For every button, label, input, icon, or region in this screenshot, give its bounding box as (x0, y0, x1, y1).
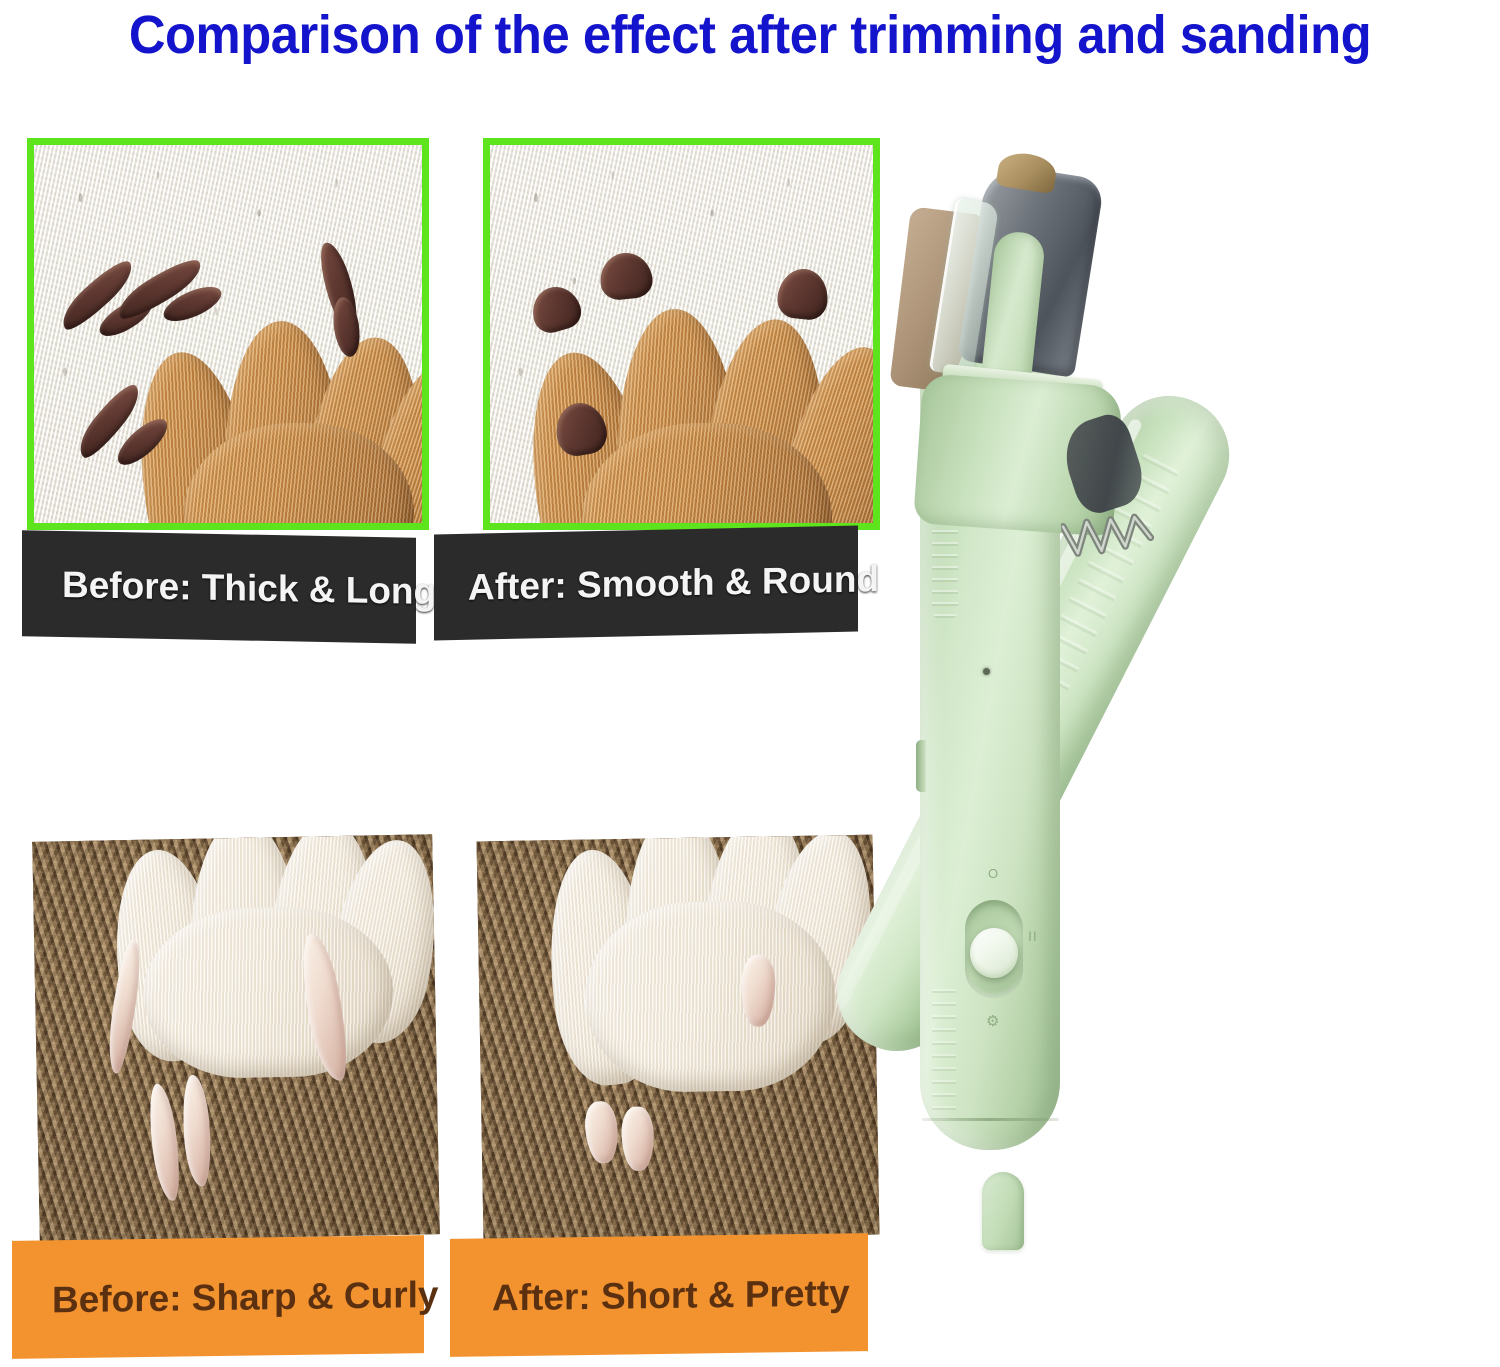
power-slider-knob[interactable] (970, 928, 1018, 978)
photo-after-short-pretty (477, 835, 880, 1242)
nail-trimmed-2 (621, 1106, 655, 1171)
body-grip-ridges-lower (932, 980, 956, 1120)
label-after-smooth-round-text: After: Smooth & Round (468, 560, 879, 606)
switch-off-mark: O (988, 866, 998, 881)
label-before-sharp-curly: Before: Sharp & Curly (12, 1235, 424, 1359)
label-after-short-pretty-text: After: Short & Pretty (492, 1274, 850, 1316)
photo-before-sharp-curly (32, 834, 440, 1242)
comparison-area: Before: Thick & Long After: Smooth & Rou… (0, 0, 900, 1367)
product-photo-nail-clipper: O II ⚙ (880, 150, 1500, 1330)
gear-icon: ⚙ (986, 1012, 999, 1030)
side-notch (916, 740, 926, 792)
photo-before-thick-long (34, 145, 422, 523)
dog-paw-tan (34, 233, 422, 523)
dog-paw-white (91, 834, 428, 1120)
dog-paw-white-trimmed (541, 835, 867, 1125)
label-before-thick-long: Before: Thick & Long (22, 530, 416, 644)
comparison-cell-bottom-left (32, 834, 440, 1242)
label-after-short-pretty: After: Short & Pretty (450, 1233, 868, 1357)
product-comparison-infographic: Comparison of the effect after trimming … (0, 0, 1500, 1367)
label-after-smooth-round: After: Smooth & Round (434, 526, 858, 641)
comparison-cell-top-left (27, 138, 429, 530)
battery-cap-tab[interactable] (982, 1172, 1024, 1250)
comparison-cell-bottom-right (477, 835, 880, 1242)
comparison-cell-top-right (483, 138, 880, 530)
label-before-thick-long-text: Before: Thick & Long (62, 565, 436, 609)
led-indicator-icon (983, 668, 990, 675)
switch-speed-mark: II (1028, 928, 1038, 944)
label-before-sharp-curly-text: Before: Sharp & Curly (52, 1275, 439, 1317)
photo-after-smooth-round (490, 145, 873, 523)
dog-paw-tan-trimmed (490, 223, 873, 523)
battery-compartment-seam (922, 1118, 1059, 1121)
